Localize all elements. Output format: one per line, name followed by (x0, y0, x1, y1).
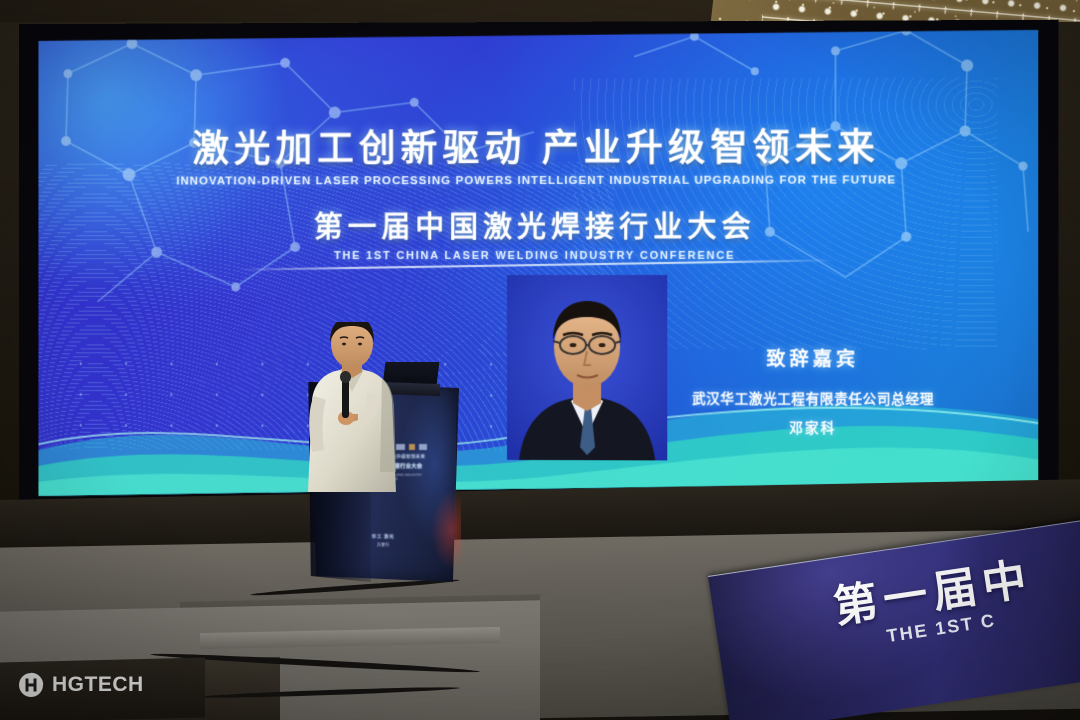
led-screen: 激光加工创新驱动 产业升级智领未来 INNOVATION-DRIVEN LASE… (38, 30, 1038, 500)
subtitle-english: THE 1ST CHINA LASER WELDING INDUSTRY CON… (38, 250, 1038, 262)
podium-brand-mark: 华工 激光 万里行 (372, 534, 395, 548)
main-title-block: 激光加工创新驱动 产业升级智领未来 INNOVATION-DRIVEN LASE… (38, 117, 1038, 188)
podium-red-reflection (431, 490, 461, 570)
led-screen-frame: 激光加工创新驱动 产业升级智领未来 INNOVATION-DRIVEN LASE… (19, 20, 1059, 517)
podium-brand-line-1: 华工 激光 (372, 534, 395, 540)
hgtech-watermark: HGTECH (18, 672, 144, 698)
conference-stage-scene: 激光加工创新驱动 产业升级智领未来 INNOVATION-DRIVEN LASE… (0, 0, 1080, 720)
hgtech-brand-text: HGTECH (52, 673, 144, 697)
speaker-portrait-photo (507, 275, 667, 460)
speaker-person (296, 322, 406, 522)
speaker-name: 邓家科 (679, 416, 947, 437)
title-english: INNOVATION-DRIVEN LASER PROCESSING POWER… (38, 174, 1038, 188)
speaker-organization: 武汉华工激光工程有限责任公司总经理 (679, 387, 947, 408)
speaker-role-label: 致辞嘉宾 (679, 344, 947, 372)
title-chinese: 激光加工创新驱动 产业升级智领未来 (38, 117, 1038, 173)
podium-brand-line-2: 万里行 (372, 542, 395, 548)
subtitle-chinese: 第一届中国激光焊接行业大会 (38, 203, 1038, 246)
speaker-info-block: 致辞嘉宾 武汉华工激光工程有限责任公司总经理 邓家科 (679, 344, 947, 437)
screen-text-content: 激光加工创新驱动 产业升级智领未来 INNOVATION-DRIVEN LASE… (38, 30, 1038, 500)
hgtech-circle-logo-icon (18, 672, 44, 698)
subtitle-block: 第一届中国激光焊接行业大会 THE 1ST CHINA LASER WELDIN… (38, 203, 1038, 262)
